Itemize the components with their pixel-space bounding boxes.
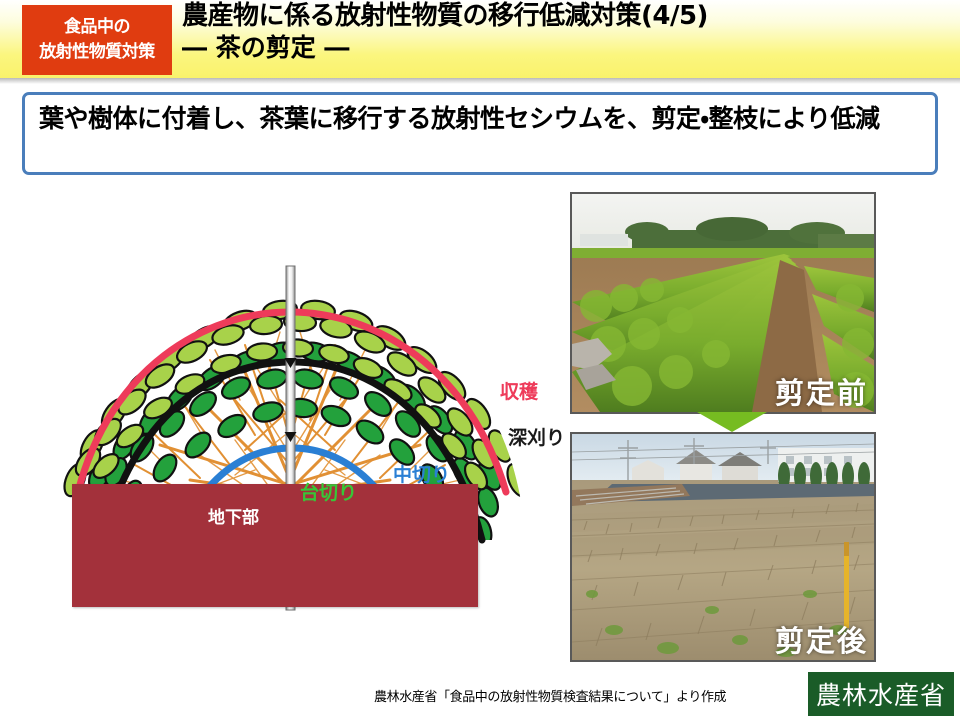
key-message-box: 葉や樹体に付着し、茶葉に移行する放射性セシウムを、剪定・整枝により低減 — [22, 92, 938, 175]
underground-zone — [72, 484, 478, 607]
label-stump-pruning: 台切り — [300, 478, 357, 505]
label-middle-pruning: 中切り — [393, 460, 450, 487]
page-title-sub: ― 茶の剪定 ― — [182, 33, 942, 63]
photo-after-caption: 剪定後 — [775, 618, 868, 660]
photo-after-pruning: 剪定後 — [570, 432, 876, 662]
slide-root: 食品中の 放射性物質対策 農産物に係る放射性物質の移行低減対策(4/5) ― 茶… — [0, 0, 960, 720]
key-message-text: 葉や樹体に付着し、茶葉に移行する放射性セシウムを、剪定・整枝により低減 — [39, 102, 921, 135]
photo-before-caption: 剪定前 — [775, 370, 868, 412]
maff-logo: 農林水産省 — [808, 672, 954, 716]
source-note: 農林水産省「食品中の放射性物質検査結果について」より作成 — [374, 686, 726, 705]
photo-before-pruning: 剪定前 — [570, 192, 876, 414]
page-title: 農産物に係る放射性物質の移行低減対策(4/5) ― 茶の剪定 ― — [182, 2, 942, 78]
badge-line-2: 放射性物質対策 — [39, 40, 155, 65]
maff-logo-text: 農林水産省 — [816, 676, 946, 712]
badge-line-1: 食品中の — [64, 15, 130, 40]
header-shadow-divider — [0, 78, 960, 84]
label-harvest: 収穫 — [500, 377, 538, 404]
page-title-main: 農産物に係る放射性物質の移行低減対策(4/5) — [182, 2, 942, 31]
label-deep-pruning: 深刈り — [508, 423, 565, 450]
underground-label: 地下部 — [208, 503, 259, 528]
transition-arrow-icon — [697, 412, 767, 432]
category-badge: 食品中の 放射性物質対策 — [22, 5, 172, 75]
